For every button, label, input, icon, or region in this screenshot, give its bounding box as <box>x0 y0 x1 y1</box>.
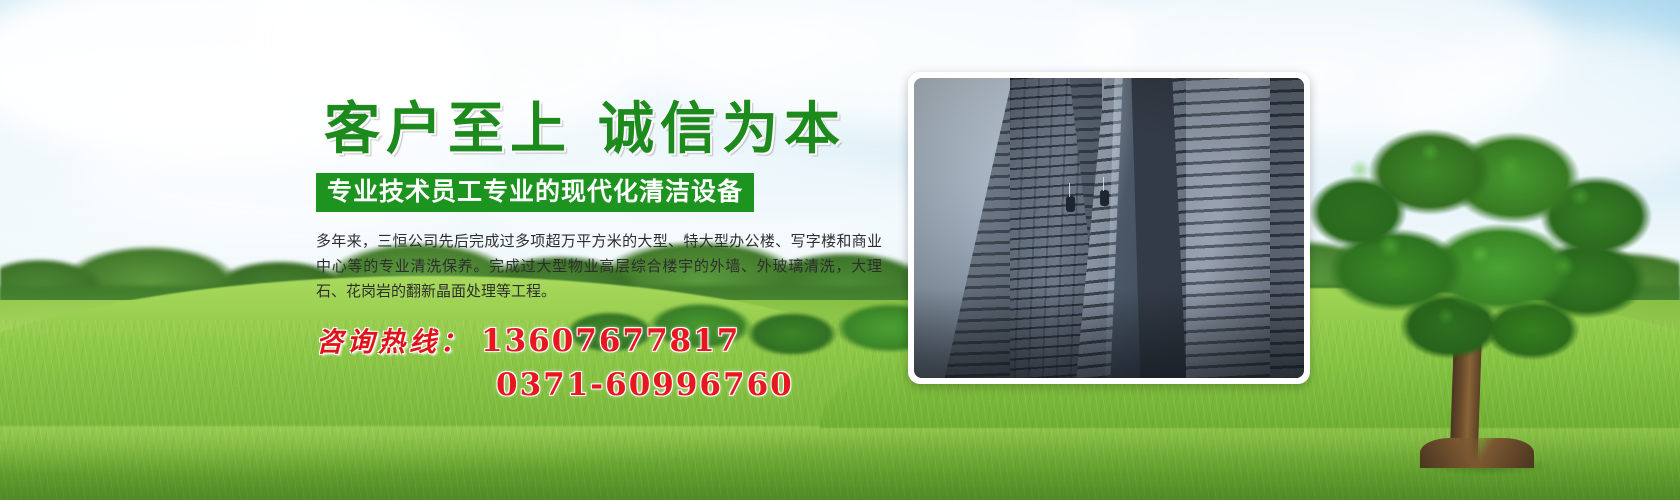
headline-phrase-2: 诚信为本 <box>598 96 846 162</box>
photo-vignette <box>914 78 1304 378</box>
hotline-secondary-row: 0371-60996760 <box>316 367 896 403</box>
banner-subtitle-text: 专业技术员工专业的现代化清洁设备 <box>327 178 743 206</box>
banner-subtitle-bar: 专业技术员工专业的现代化清洁设备 <box>316 173 754 212</box>
headline-phrase-1: 客户至上 <box>324 96 572 162</box>
building-photo-card[interactable] <box>908 72 1310 384</box>
hotline-number-primary[interactable]: 13607677817 <box>481 323 740 359</box>
banner-body-copy: 多年来，三恒公司先后完成过多项超万平方米的大型、特大型办公楼、写字楼和商业中心等… <box>316 229 882 304</box>
hotline-label: 咨询热线： <box>316 327 471 358</box>
tree-root-left <box>1420 438 1480 468</box>
tree-root-right <box>1472 438 1534 468</box>
hotline-primary-row: 咨询热线：13607677817 <box>316 320 896 359</box>
building-photo <box>914 78 1304 378</box>
banner-text-block: 客户至上诚信为本 专业技术员工专业的现代化清洁设备 多年来，三恒公司先后完成过多… <box>316 98 896 403</box>
tree-illustration <box>1300 120 1660 480</box>
hotline-number-secondary[interactable]: 0371-60996760 <box>496 367 794 403</box>
banner-headline: 客户至上诚信为本 <box>324 98 896 161</box>
promo-banner: 客户至上诚信为本 专业技术员工专业的现代化清洁设备 多年来，三恒公司先后完成过多… <box>0 0 1680 500</box>
tree-canopy-highlights <box>1320 130 1640 350</box>
